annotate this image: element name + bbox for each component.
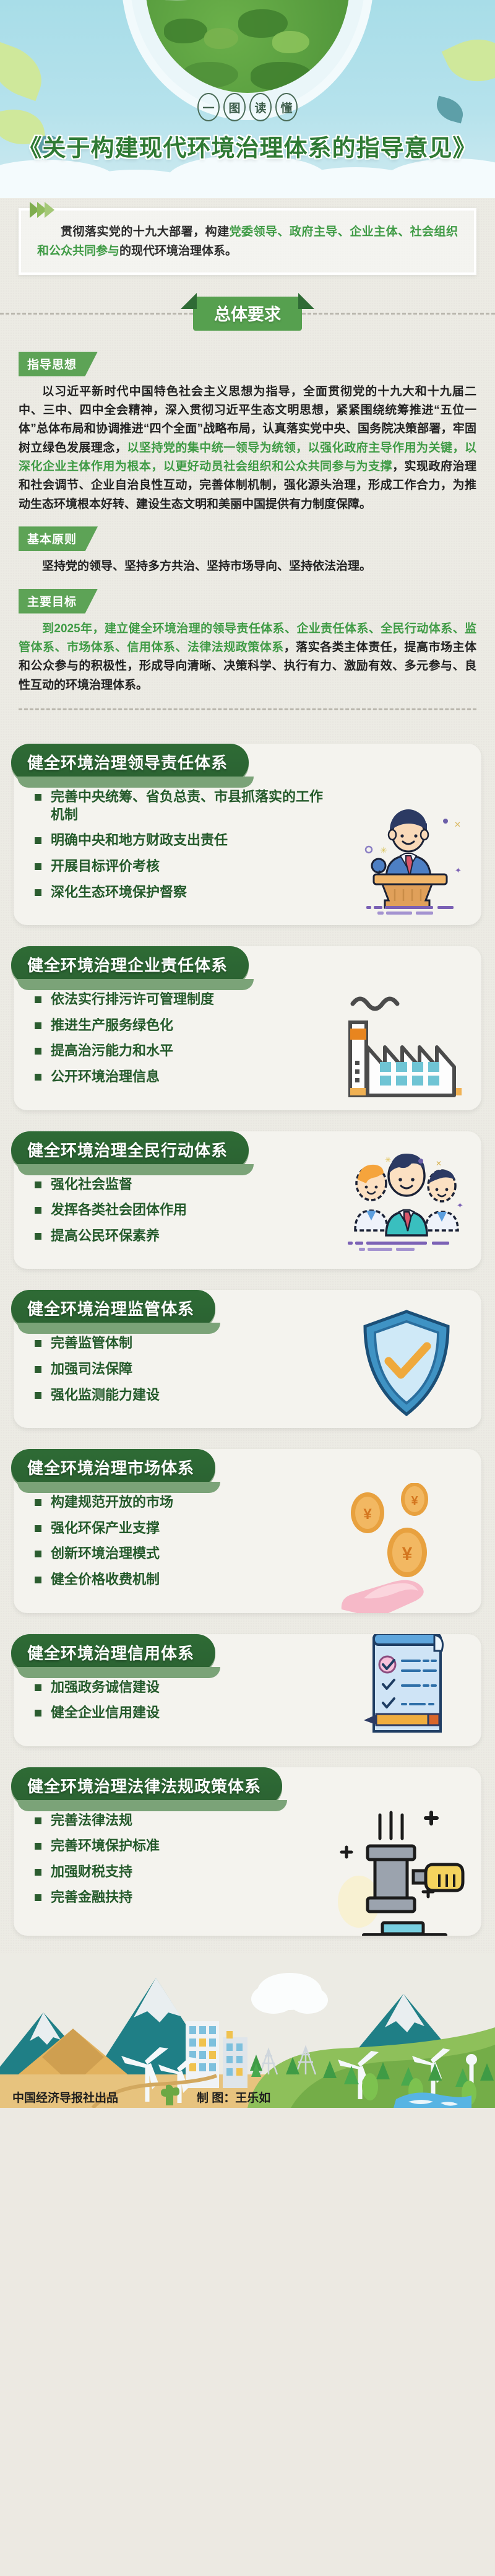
svg-text:✦: ✦ — [457, 1201, 463, 1210]
list-item: 完善中央统筹、省负总责、市县抓落实的工作机制 — [35, 788, 325, 824]
list-item: 加强财税支持 — [35, 1863, 325, 1881]
list-item: 构建规范开放的市场 — [35, 1494, 325, 1512]
card-supervision-system: 健全环境治理监管体系 完善监管体制 加强司法保障 强化监测能力建设 — [14, 1290, 481, 1428]
hand-coins-icon: ¥ ¥ ¥ — [335, 1483, 471, 1613]
card-title: 健全环境治理全民行动体系 — [11, 1131, 249, 1169]
page-title: 《关于构建现代环境治理体系的指导意见》 — [0, 129, 495, 163]
card-title: 健全环境治理企业责任体系 — [11, 946, 249, 984]
svg-text:✳: ✳ — [385, 1155, 391, 1164]
list-item: 健全企业信用建设 — [35, 1704, 325, 1722]
intro-text: 贯彻落实党的十九大部署，构建党委领导、政府主导、企业主体、社会组织和公众共同参与… — [37, 223, 458, 261]
speaker-podium-icon: ✕ ✳ ✦ — [342, 805, 471, 916]
chevron-arrows-icon — [30, 202, 52, 218]
card-leadership-responsibility: 健全环境治理领导责任体系 完善中央统筹、省负总责、市县抓落实的工作机制 明确中央… — [14, 744, 481, 925]
intro-box: 贯彻落实党的十九大部署，构建党委领导、政府主导、企业主体、社会组织和公众共同参与… — [19, 208, 476, 275]
list-item: 依法实行排污许可管理制度 — [35, 991, 325, 1009]
svg-text:制 图：王乐如: 制 图：王乐如 — [197, 2091, 270, 2105]
svg-text:✕: ✕ — [454, 820, 461, 829]
divider-right — [302, 313, 495, 315]
svg-text:¥: ¥ — [402, 1544, 413, 1564]
leaf-icon — [433, 96, 466, 124]
list-item: 强化社会监督 — [35, 1176, 325, 1194]
intro-block: 贯彻落实党的十九大部署，构建党委领导、政府主导、企业主体、社会组织和公众共同参与… — [0, 198, 495, 275]
list-item: 开展目标评价考核 — [35, 858, 325, 876]
subsection-text: 坚持党的领导、坚持多方共治、坚持市场导向、坚持依法治理。 — [19, 557, 476, 576]
list-item: 完善法律法规 — [35, 1812, 325, 1830]
list-item: 完善金融扶持 — [35, 1889, 325, 1907]
list-item: 深化生态环境保护督察 — [35, 884, 325, 902]
card-title: 健全环境治理法律法规政策体系 — [11, 1767, 282, 1805]
list-item: 创新环境治理模式 — [35, 1545, 325, 1563]
content-sheet: 贯彻落实党的十九大部署，构建党委领导、政府主导、企业主体、社会组织和公众共同参与… — [0, 198, 495, 2108]
divider-left — [0, 313, 193, 315]
section-banner-label: 总体要求 — [193, 297, 302, 331]
leaf-icon — [0, 41, 50, 102]
hero-section: 一 图 读 懂 《关于构建现代环境治理体系的指导意见》 — [0, 0, 495, 198]
divider-bottom — [19, 708, 476, 710]
list-item: 完善监管体制 — [35, 1334, 325, 1352]
list-item: 强化监测能力建设 — [35, 1386, 325, 1404]
card-title: 健全环境治理监管体系 — [11, 1290, 215, 1328]
card-title: 健全环境治理领导责任体系 — [11, 744, 249, 781]
leaf-icon — [442, 27, 495, 94]
subsection-tag: 指导思想 — [19, 352, 98, 376]
card-credit-system: 健全环境治理信用体系 加强政务诚信建设 健全企业信用建设 — [14, 1634, 481, 1746]
card-public-action: 健全环境治理全民行动体系 强化社会监督 发挥各类社会团体作用 提高公民环保素养 — [14, 1131, 481, 1269]
read-badge-char: 图 — [223, 93, 246, 121]
list-item: 提高治污能力和水平 — [35, 1042, 325, 1060]
shield-check-icon — [342, 1308, 471, 1419]
card-law-policy-system: 健全环境治理法律法规政策体系 完善法律法规 完善环境保护标准 加强财税支持 完善… — [14, 1767, 481, 1936]
svg-text:✳: ✳ — [380, 845, 387, 855]
list-item: 公开环境治理信息 — [35, 1068, 325, 1086]
svg-text:¥: ¥ — [411, 1494, 418, 1508]
list-item: 加强司法保障 — [35, 1360, 325, 1378]
list-item: 发挥各类社会团体作用 — [35, 1201, 325, 1219]
list-item: 提高公民环保素养 — [35, 1227, 325, 1245]
footer-scene: 中国经济导报社出品 制 图：王乐如 — [0, 1953, 495, 2108]
read-badge: 一 图 读 懂 — [197, 93, 298, 121]
read-badge-char: 读 — [249, 93, 272, 121]
section-banner-overall: 总体要求 — [0, 297, 495, 331]
svg-text:¥: ¥ — [363, 1506, 372, 1523]
list-item: 加强政务诚信建设 — [35, 1679, 325, 1697]
requirement-block: 主要目标 到2025年，建立健全环境治理的领导责任体系、企业责任体系、全民行动体… — [19, 577, 476, 695]
read-badge-char: 一 — [197, 93, 220, 121]
factory-icon — [342, 990, 471, 1102]
list-item: 明确中央和地方财政支出责任 — [35, 832, 325, 850]
overall-requirements-body: 指导思想 以习近平新时代中国特色社会主义思想为指导，全面贯彻党的十九大和十九届二… — [0, 337, 495, 723]
subsection-text: 到2025年，建立健全环境治理的领导责任体系、企业责任体系、全民行动体系、监管体… — [19, 620, 476, 695]
list-item: 完善环境保护标准 — [35, 1837, 325, 1855]
list-item: 健全价格收费机制 — [35, 1571, 325, 1589]
list-item: 强化环保产业支撑 — [35, 1520, 325, 1538]
subsection-tag: 基本原则 — [19, 526, 98, 551]
list-item: 推进生产服务绿色化 — [35, 1017, 325, 1035]
gavel-icon — [329, 1808, 471, 1936]
card-market-system: 健全环境治理市场体系 构建规范开放的市场 强化环保产业支撑 创新环境治理模式 健… — [14, 1449, 481, 1612]
svg-text:✕: ✕ — [436, 1159, 442, 1168]
requirement-block: 指导思想 以习近平新时代中国特色社会主义思想为指导，全面贯彻党的十九大和十九届二… — [19, 339, 476, 515]
infographic-poster: 一 图 读 懂 《关于构建现代环境治理体系的指导意见》 贯彻落实党的十九大部署，… — [0, 0, 495, 2108]
card-enterprise-responsibility: 健全环境治理企业责任体系 依法实行排污许可管理制度 推进生产服务绿色化 提高治污… — [14, 946, 481, 1110]
subsection-tag: 主要目标 — [19, 589, 98, 614]
svg-text:✦: ✦ — [455, 866, 462, 875]
card-title: 健全环境治理市场体系 — [11, 1449, 215, 1487]
people-group-icon: ✕ ✳ ✦ — [342, 1149, 471, 1260]
checklist-pencil-icon — [342, 1634, 471, 1738]
requirement-block: 基本原则 坚持党的领导、坚持多方共治、坚持市场导向、坚持依法治理。 — [19, 514, 476, 576]
card-title: 健全环境治理信用体系 — [11, 1634, 215, 1672]
subsection-text: 以习近平新时代中国特色社会主义思想为指导，全面贯彻党的十九大和十九届二中、三中、… — [19, 383, 476, 515]
svg-text:中国经济导报社出品: 中国经济导报社出品 — [12, 2091, 118, 2105]
read-badge-char: 懂 — [275, 93, 298, 121]
